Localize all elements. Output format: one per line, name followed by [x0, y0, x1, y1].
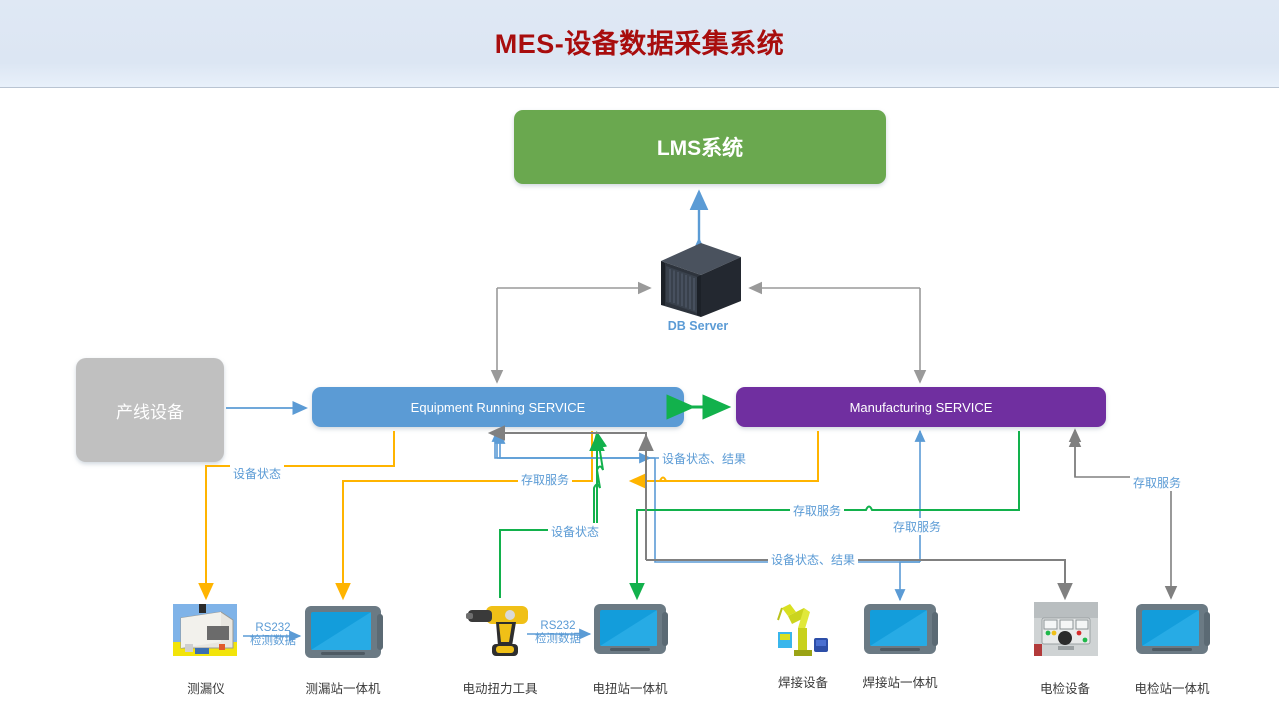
rs232-torque-line1: RS232 [530, 620, 586, 633]
device-label-etest-equipment: 电检设备 [1018, 678, 1112, 697]
monitor-icon[interactable] [594, 604, 668, 654]
rs232-leak-line1: RS232 [245, 622, 301, 635]
diagram-canvas: MES-设备数据采集系统 [0, 0, 1279, 717]
link-label-status-left: 设备状态 [230, 465, 284, 482]
db-server-label: DB Server [640, 319, 756, 333]
server-rack-icon[interactable] [661, 243, 741, 317]
link-label-access-right: 存取服务 [1130, 474, 1184, 491]
power-drill-icon[interactable] [466, 606, 528, 656]
welding-robot-icon[interactable] [778, 604, 828, 656]
rs232-leak-label: RS232 检测数据 [245, 622, 301, 648]
link-label-access-left: 存取服务 [518, 471, 572, 488]
device-label-welding-station: 焊接站一体机 [850, 672, 950, 691]
link-label-status-result-gray: 设备状态、结果 [768, 551, 858, 568]
test-cabinet-icon[interactable] [1034, 602, 1098, 656]
rs232-torque-label: RS232 检测数据 [530, 620, 586, 646]
device-label-leak-tester: 测漏仪 [156, 678, 256, 697]
device-label-torque-station: 电扭站一体机 [580, 678, 680, 697]
link-label-access-blue: 存取服务 [890, 518, 944, 535]
icon-layer [0, 0, 1279, 717]
leak-tester-icon[interactable] [173, 604, 237, 656]
link-label-status-green: 设备状态 [548, 523, 602, 540]
link-label-access-green: 存取服务 [790, 502, 844, 519]
device-label-leak-station: 测漏站一体机 [293, 678, 393, 697]
device-label-torque-tool: 电动扭力工具 [450, 678, 550, 697]
rs232-torque-line2: 检测数据 [530, 633, 586, 646]
link-label-status-result-blue: 设备状态、结果 [659, 450, 749, 467]
device-label-etest-station: 电检站一体机 [1122, 678, 1222, 697]
monitor-icon[interactable] [1136, 604, 1210, 654]
monitor-icon[interactable] [864, 604, 938, 654]
device-label-welding-equipment: 焊接设备 [756, 672, 850, 691]
rs232-leak-line2: 检测数据 [245, 635, 301, 648]
monitor-icon[interactable] [305, 606, 383, 658]
